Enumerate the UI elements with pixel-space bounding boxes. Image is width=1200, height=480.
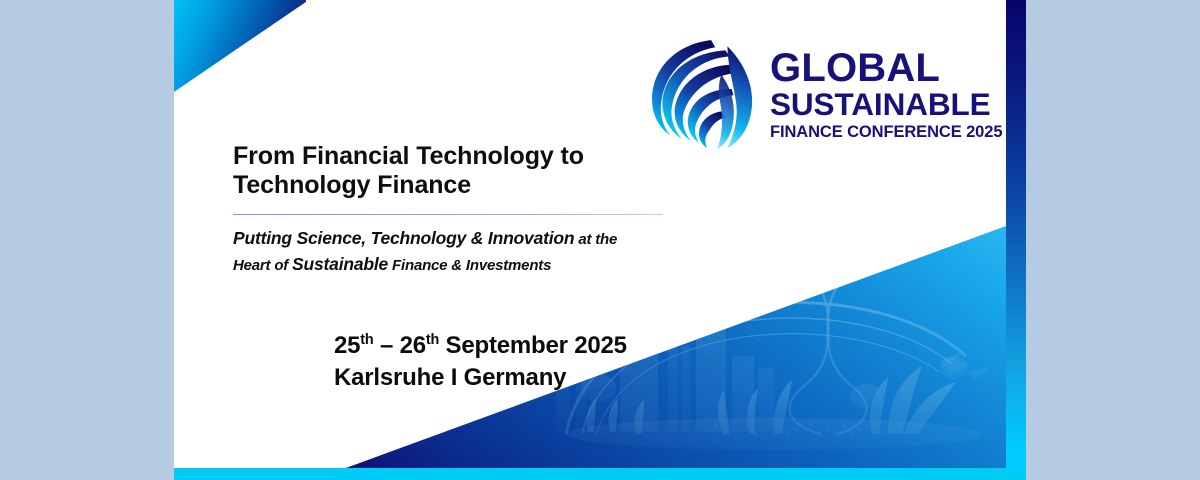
slide-canvas: GLOBAL SUSTAINABLE FINANCE CONFERENCE 20…	[0, 0, 1200, 480]
subtitle-segment-4: Sustainable	[292, 254, 388, 274]
page-title: From Financial Technology to Technology …	[233, 142, 653, 200]
title-line-2: Technology Finance	[233, 171, 471, 199]
subtitle-segment-5: Finance & Investments	[388, 257, 551, 274]
subtitle-segment-2: at the	[574, 231, 617, 248]
conference-title-slide: GLOBAL SUSTAINABLE FINANCE CONFERENCE 20…	[174, 0, 1026, 480]
logo-line-sustainable: SUSTAINABLE	[770, 89, 1002, 121]
title-line-1: From Financial Technology to	[233, 142, 584, 170]
title-divider	[233, 214, 663, 215]
right-gradient-edge	[1006, 0, 1026, 480]
date-day-start: 25	[334, 332, 360, 359]
event-date: 25th – 26th September 2025	[334, 330, 627, 362]
date-dash: –	[373, 332, 399, 359]
page-subtitle: Putting Science, Technology & Innovation…	[233, 226, 663, 278]
logo-wordmark: GLOBAL SUSTAINABLE FINANCE CONFERENCE 20…	[770, 42, 1002, 141]
bottom-cyan-edge	[174, 468, 1026, 480]
date-day-start-ordinal: th	[360, 332, 373, 348]
logo-line-finance-conference: FINANCE CONFERENCE 2025	[770, 124, 1002, 141]
top-left-gradient-triangle	[174, 0, 306, 92]
date-day-end: 26	[400, 332, 426, 359]
subtitle-segment-1: Putting Science, Technology & Innovation	[233, 228, 574, 248]
logo-line-global: GLOBAL	[770, 48, 1002, 88]
date-month-year: September 2025	[439, 332, 627, 359]
conference-logo: GLOBAL SUSTAINABLE FINANCE CONFERENCE 20…	[640, 30, 1002, 152]
globe-leaf-logo-icon	[640, 30, 762, 152]
slide-paper: GLOBAL SUSTAINABLE FINANCE CONFERENCE 20…	[174, 0, 1006, 468]
event-location: Karlsruhe I Germany	[334, 362, 566, 394]
subtitle-segment-3: Heart of	[233, 257, 292, 274]
date-day-end-ordinal: th	[426, 332, 439, 348]
